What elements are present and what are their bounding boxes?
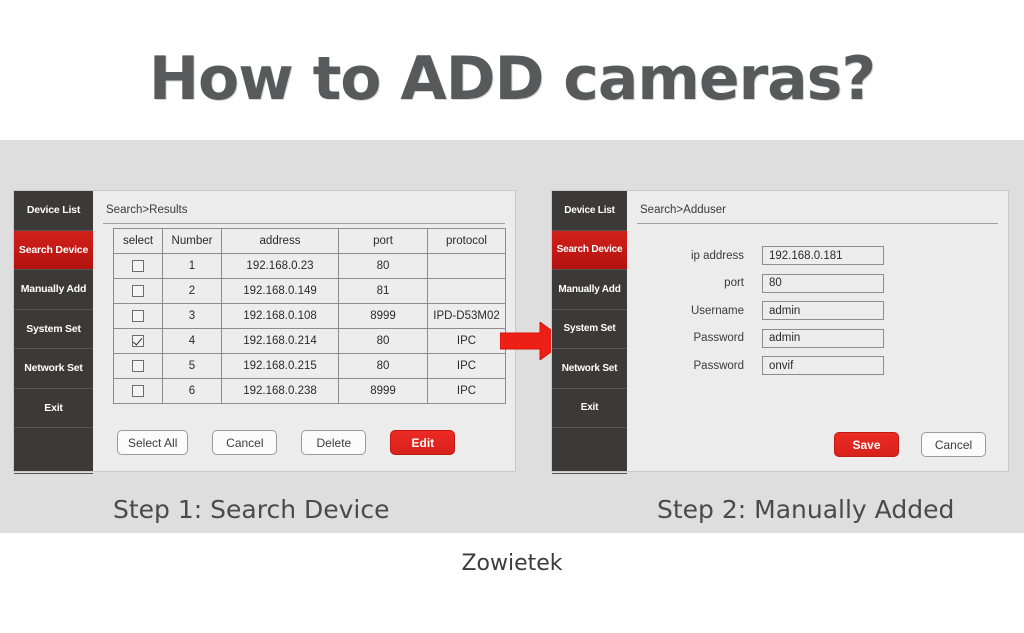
right-breadcrumb-divider <box>637 223 998 224</box>
column-header-port: port <box>339 229 428 254</box>
row-address: 192.168.0.215 <box>222 354 339 379</box>
sidebar-item-manually-add[interactable]: Manually Add <box>552 270 627 310</box>
row-address: 192.168.0.149 <box>222 279 339 304</box>
sidebar-item-exit[interactable]: Exit <box>14 389 93 429</box>
row-port: 81 <box>339 279 428 304</box>
manually-add-panel: Device ListSearch DeviceManually AddSyst… <box>551 190 1009 472</box>
sidebar-filler <box>14 428 93 474</box>
field-label-password: Password <box>657 360 762 372</box>
column-header-protocol: protocol <box>428 229 506 254</box>
right-breadcrumb: Search>Adduser <box>640 204 726 216</box>
sidebar-item-system-set[interactable]: System Set <box>14 310 93 350</box>
brand-footer: Zowietek <box>0 551 1024 576</box>
row-port: 80 <box>339 354 428 379</box>
sidebar-item-search-device[interactable]: Search Device <box>14 231 93 271</box>
row-protocol: IPC <box>428 329 506 354</box>
row-address: 192.168.0.214 <box>222 329 339 354</box>
checkbox-icon[interactable] <box>132 360 144 372</box>
field-input-password[interactable]: onvif <box>762 356 884 375</box>
field-input-username[interactable]: admin <box>762 301 884 320</box>
table-row[interactable]: 5192.168.0.21580IPC <box>114 354 506 379</box>
row-checkbox-cell[interactable] <box>114 354 163 379</box>
column-header-address: address <box>222 229 339 254</box>
form-row: Passwordadmin <box>657 329 884 348</box>
checkbox-checked-icon[interactable] <box>132 335 144 347</box>
table-header-row: select Number address port protocol <box>114 229 506 254</box>
cancel-button-right[interactable]: Cancel <box>921 432 986 457</box>
row-number: 1 <box>163 254 222 279</box>
right-button-row: Save Cancel <box>834 432 986 457</box>
column-header-select: select <box>114 229 163 254</box>
row-protocol: IPC <box>428 379 506 404</box>
row-number: 6 <box>163 379 222 404</box>
page-title: How to ADD cameras? <box>0 44 1024 114</box>
row-protocol <box>428 254 506 279</box>
edit-button[interactable]: Edit <box>390 430 455 455</box>
row-number: 3 <box>163 304 222 329</box>
search-device-panel: Device ListSearch DeviceManually AddSyst… <box>13 190 516 472</box>
row-address: 192.168.0.108 <box>222 304 339 329</box>
save-button[interactable]: Save <box>834 432 899 457</box>
row-checkbox-cell[interactable] <box>114 279 163 304</box>
field-input-password[interactable]: admin <box>762 329 884 348</box>
sidebar-item-system-set[interactable]: System Set <box>552 310 627 350</box>
row-checkbox-cell[interactable] <box>114 379 163 404</box>
field-label-ip-address: ip address <box>657 250 762 262</box>
left-breadcrumb: Search>Results <box>106 204 188 216</box>
field-label-port: port <box>657 277 762 289</box>
row-protocol: IPD-D53M02 <box>428 304 506 329</box>
row-port: 80 <box>339 254 428 279</box>
row-number: 4 <box>163 329 222 354</box>
sidebar-item-device-list[interactable]: Device List <box>552 191 627 231</box>
form-row: Usernameadmin <box>657 301 884 320</box>
row-protocol <box>428 279 506 304</box>
row-checkbox-cell[interactable] <box>114 329 163 354</box>
row-address: 192.168.0.238 <box>222 379 339 404</box>
sidebar-item-manually-add[interactable]: Manually Add <box>14 270 93 310</box>
form-row: ip address192.168.0.181 <box>657 246 884 265</box>
sidebar-item-network-set[interactable]: Network Set <box>14 349 93 389</box>
table-row[interactable]: 2192.168.0.14981 <box>114 279 506 304</box>
row-port: 8999 <box>339 379 428 404</box>
sidebar-item-exit[interactable]: Exit <box>552 389 627 429</box>
field-input-port[interactable]: 80 <box>762 274 884 293</box>
table-row[interactable]: 3192.168.0.1088999IPD-D53M02 <box>114 304 506 329</box>
row-number: 5 <box>163 354 222 379</box>
row-number: 2 <box>163 279 222 304</box>
row-address: 192.168.0.23 <box>222 254 339 279</box>
column-header-number: Number <box>163 229 222 254</box>
sidebar-filler <box>552 428 627 474</box>
field-label-username: Username <box>657 305 762 317</box>
search-results-table: select Number address port protocol 1192… <box>113 228 506 404</box>
left-sidebar: Device ListSearch DeviceManually AddSyst… <box>14 191 93 471</box>
checkbox-icon[interactable] <box>132 285 144 297</box>
row-port: 80 <box>339 329 428 354</box>
left-content: Search>Results select Number address por… <box>93 191 515 471</box>
row-protocol: IPC <box>428 354 506 379</box>
left-breadcrumb-divider <box>103 223 505 224</box>
step-2-caption: Step 2: Manually Added <box>657 495 954 524</box>
select-all-button[interactable]: Select All <box>117 430 188 455</box>
left-button-row: Select All Cancel Delete Edit <box>117 430 455 455</box>
checkbox-icon[interactable] <box>132 260 144 272</box>
add-user-form: ip address192.168.0.181port80Usernameadm… <box>657 246 884 384</box>
cancel-button[interactable]: Cancel <box>212 430 277 455</box>
sidebar-item-device-list[interactable]: Device List <box>14 191 93 231</box>
field-label-password: Password <box>657 332 762 344</box>
row-checkbox-cell[interactable] <box>114 254 163 279</box>
table-row[interactable]: 1192.168.0.2380 <box>114 254 506 279</box>
checkbox-icon[interactable] <box>132 310 144 322</box>
checkbox-icon[interactable] <box>132 385 144 397</box>
step-1-caption: Step 1: Search Device <box>113 495 389 524</box>
table-row[interactable]: 4192.168.0.21480IPC <box>114 329 506 354</box>
form-row: Passwordonvif <box>657 356 884 375</box>
row-port: 8999 <box>339 304 428 329</box>
form-row: port80 <box>657 274 884 293</box>
sidebar-item-network-set[interactable]: Network Set <box>552 349 627 389</box>
right-content: Search>Adduser ip address192.168.0.181po… <box>627 191 1008 471</box>
right-sidebar: Device ListSearch DeviceManually AddSyst… <box>552 191 627 471</box>
sidebar-item-search-device[interactable]: Search Device <box>552 231 627 271</box>
field-input-ip-address[interactable]: 192.168.0.181 <box>762 246 884 265</box>
delete-button[interactable]: Delete <box>301 430 366 455</box>
table-row[interactable]: 6192.168.0.2388999IPC <box>114 379 506 404</box>
row-checkbox-cell[interactable] <box>114 304 163 329</box>
